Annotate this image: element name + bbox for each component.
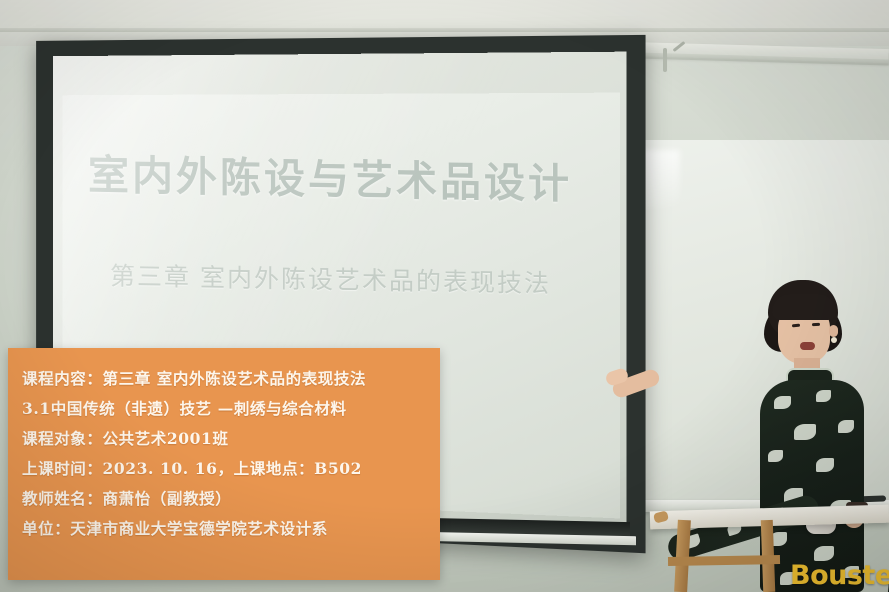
embroidery-flower-icon (768, 450, 783, 462)
course-info-line: 课程内容：第三章 室内外陈设艺术品的表现技法 (22, 364, 440, 394)
embroidery-flower-icon (794, 424, 816, 440)
watermark: Boustead (790, 560, 889, 591)
embroidery-flower-icon (816, 458, 834, 472)
instructor-fringe (772, 294, 836, 320)
instructor-ear (829, 325, 838, 337)
embroidery-flower-icon (838, 420, 854, 433)
course-info-card: 课程内容：第三章 室内外陈设艺术品的表现技法 3.1中国传统（非遗）技艺 —刺绣… (8, 348, 440, 580)
instructor-earring (831, 337, 837, 343)
course-info-line: 教师姓名：商萧怡（副教授） (22, 484, 440, 514)
instructor-mouth (800, 342, 815, 350)
embroidery-flower-icon (816, 390, 831, 402)
instructor-eye-right (812, 323, 820, 327)
course-info-line: 3.1中国传统（非遗）技艺 —刺绣与综合材料 (22, 394, 440, 424)
course-info-line: 课程对象：公共艺术2001班 (22, 424, 440, 454)
embroidery-flower-icon (774, 396, 791, 409)
instructor (716, 280, 889, 592)
rail-hook-icon (663, 48, 667, 72)
course-info-line: 单位：天津市商业大学宝德学院艺术设计系 (22, 514, 440, 544)
embroidery-flower-icon (814, 546, 834, 561)
classroom-screenshot: 室内外陈设与艺术品设计 第三章 室内外陈设艺术品的表现技法 课程内容：第三章 室… (0, 0, 889, 592)
slide-title: 室内外陈设与艺术品设计 (88, 141, 628, 211)
course-info-line: 上课时间：2023. 10. 16，上课地点：B502 (22, 454, 440, 484)
